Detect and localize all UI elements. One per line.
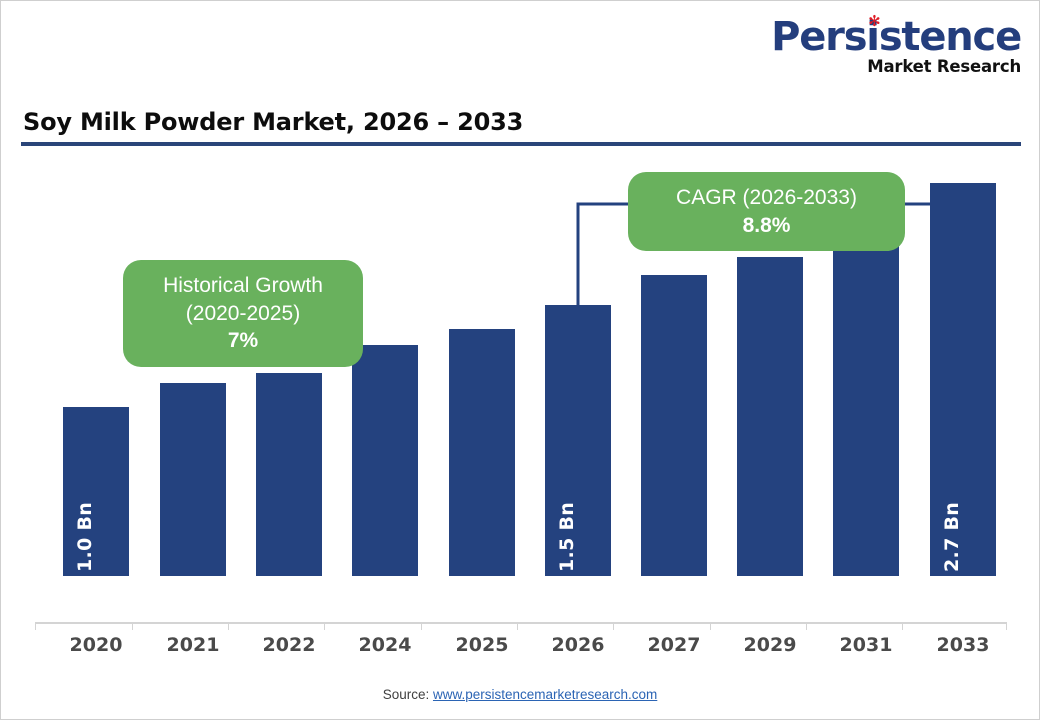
x-axis-label-2027: 2027 <box>641 634 707 656</box>
callout-historical-line2: (2020-2025) <box>141 300 345 328</box>
x-axis-line <box>35 622 1007 624</box>
callout-historical-line1: Historical Growth <box>141 272 345 300</box>
bar-value-label-2026: US$ 1.5 Bn <box>556 502 578 622</box>
bar-2020: US$ 1.0 Bn <box>63 407 129 576</box>
x-axis-tick <box>710 622 711 630</box>
bar-2022 <box>256 373 322 576</box>
x-axis-label-2029: 2029 <box>737 634 803 656</box>
x-axis-tick <box>35 622 36 630</box>
bar-2029 <box>737 257 803 576</box>
logo-subtitle: Market Research <box>771 59 1021 76</box>
callout-cagr-line1: CAGR (2026-2033) <box>646 184 887 212</box>
x-axis-tick <box>806 622 807 630</box>
logo-wordmark-text: Persistence <box>771 14 1021 60</box>
callout-cagr-value: 8.8% <box>646 212 887 240</box>
x-axis-label-2033: 2033 <box>930 634 996 656</box>
x-axis-tick <box>902 622 903 630</box>
x-axis-label-2031: 2031 <box>833 634 899 656</box>
source-note: Source: www.persistencemarketresearch.co… <box>1 687 1039 702</box>
x-axis-tick <box>421 622 422 630</box>
callout-historical-growth: Historical Growth (2020-2025) 7% <box>123 260 363 367</box>
x-axis-tick <box>228 622 229 630</box>
logo-wordmark: Persistence ✻ <box>771 17 1021 57</box>
bar-2025 <box>449 329 515 576</box>
bar-2031 <box>833 220 899 576</box>
bar-2033: US$ 2.7 Bn <box>930 183 996 576</box>
x-axis-tick <box>613 622 614 630</box>
source-prefix: Source: <box>383 687 433 702</box>
persistence-market-research-logo: Persistence ✻ Market Research <box>771 17 1021 76</box>
bar-value-label-2020: US$ 1.0 Bn <box>74 502 96 622</box>
x-axis-tick <box>1006 622 1007 630</box>
callout-cagr: CAGR (2026-2033) 8.8% <box>628 172 905 251</box>
title-divider <box>21 142 1021 146</box>
logo-star-icon: ✻ <box>868 14 879 29</box>
x-axis-label-2025: 2025 <box>449 634 515 656</box>
x-axis-tick <box>517 622 518 630</box>
x-axis-tick <box>132 622 133 630</box>
x-axis-label-2020: 2020 <box>63 634 129 656</box>
bar-2021 <box>160 383 226 576</box>
x-axis-label-2026: 2026 <box>545 634 611 656</box>
page-title: Soy Milk Powder Market, 2026 – 2033 <box>23 108 523 136</box>
bar-2026: US$ 1.5 Bn <box>545 305 611 576</box>
bar-2027 <box>641 275 707 576</box>
x-axis-label-2021: 2021 <box>160 634 226 656</box>
x-axis-tick <box>324 622 325 630</box>
x-axis-label-2024: 2024 <box>352 634 418 656</box>
bar-2024 <box>352 345 418 576</box>
callout-historical-value: 7% <box>141 327 345 355</box>
chart-page: Persistence ✻ Market Research Soy Milk P… <box>0 0 1040 720</box>
x-axis-label-2022: 2022 <box>256 634 322 656</box>
source-link[interactable]: www.persistencemarketresearch.com <box>433 687 657 702</box>
bar-value-label-2033: US$ 2.7 Bn <box>941 502 963 622</box>
